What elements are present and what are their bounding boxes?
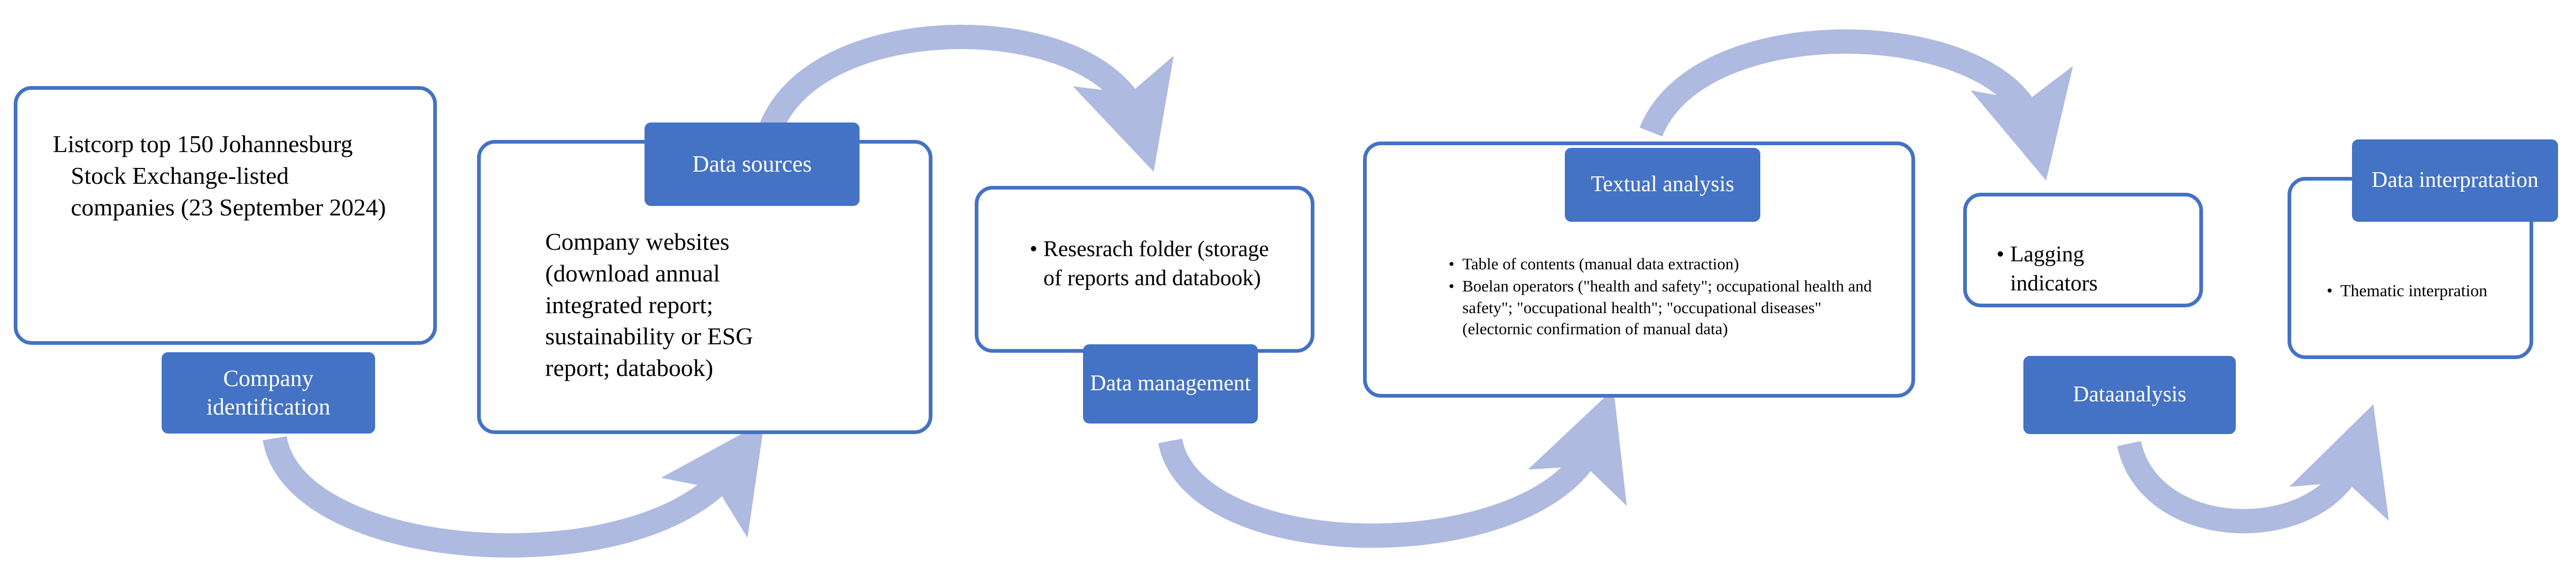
step-bullets-data-management: Resesrach folder (storage of reports and… — [1028, 235, 1292, 294]
list-item: Thematic interpration — [2325, 280, 2499, 302]
arrow-textual-analysis-to-dataanalysis — [1651, 42, 2034, 132]
step-badge-dataanalysis[interactable]: Dataanalysis — [2023, 356, 2236, 434]
arrow-data-sources-to-data-management — [769, 37, 1138, 135]
step-bullets-dataanalysis: Lagging indicators — [1994, 240, 2169, 299]
step-badge-company-identification[interactable]: Company identification — [162, 352, 375, 434]
arrow-company-identification-to-data-sources — [275, 438, 734, 545]
arrow-data-management-to-textual-analysis — [1170, 438, 1595, 535]
list-item: Resesrach folder (storage of reports and… — [1028, 235, 1292, 293]
list-item: Boelan operators ("health and safety"; o… — [1446, 276, 1890, 340]
list-item: Table of contents (manual data extractio… — [1446, 253, 1890, 275]
step-badge-data-management[interactable]: Data management — [1083, 344, 1258, 424]
process-flow-diagram: Listcorp top 150 Johannesburg Stock Exch… — [0, 0, 2576, 574]
step-badge-data-sources[interactable]: Data sources — [645, 123, 860, 206]
step-badge-textual-analysis[interactable]: Textual analysis — [1565, 148, 1760, 222]
list-item: Lagging indicators — [1994, 240, 2169, 298]
step-body-company-identification: Listcorp top 150 Johannesburg Stock Exch… — [53, 128, 388, 223]
step-bullets-data-interpratation: Thematic interpration — [2325, 280, 2499, 303]
step-badge-data-interpratation[interactable]: Data interpratation — [2352, 139, 2558, 222]
arrow-dataanalysis-to-data-interpratation — [2129, 444, 2356, 521]
step-body-data-sources: Company websites (download annual integr… — [545, 226, 815, 384]
step-bullets-textual-analysis: Table of contents (manual data extractio… — [1446, 253, 1890, 341]
